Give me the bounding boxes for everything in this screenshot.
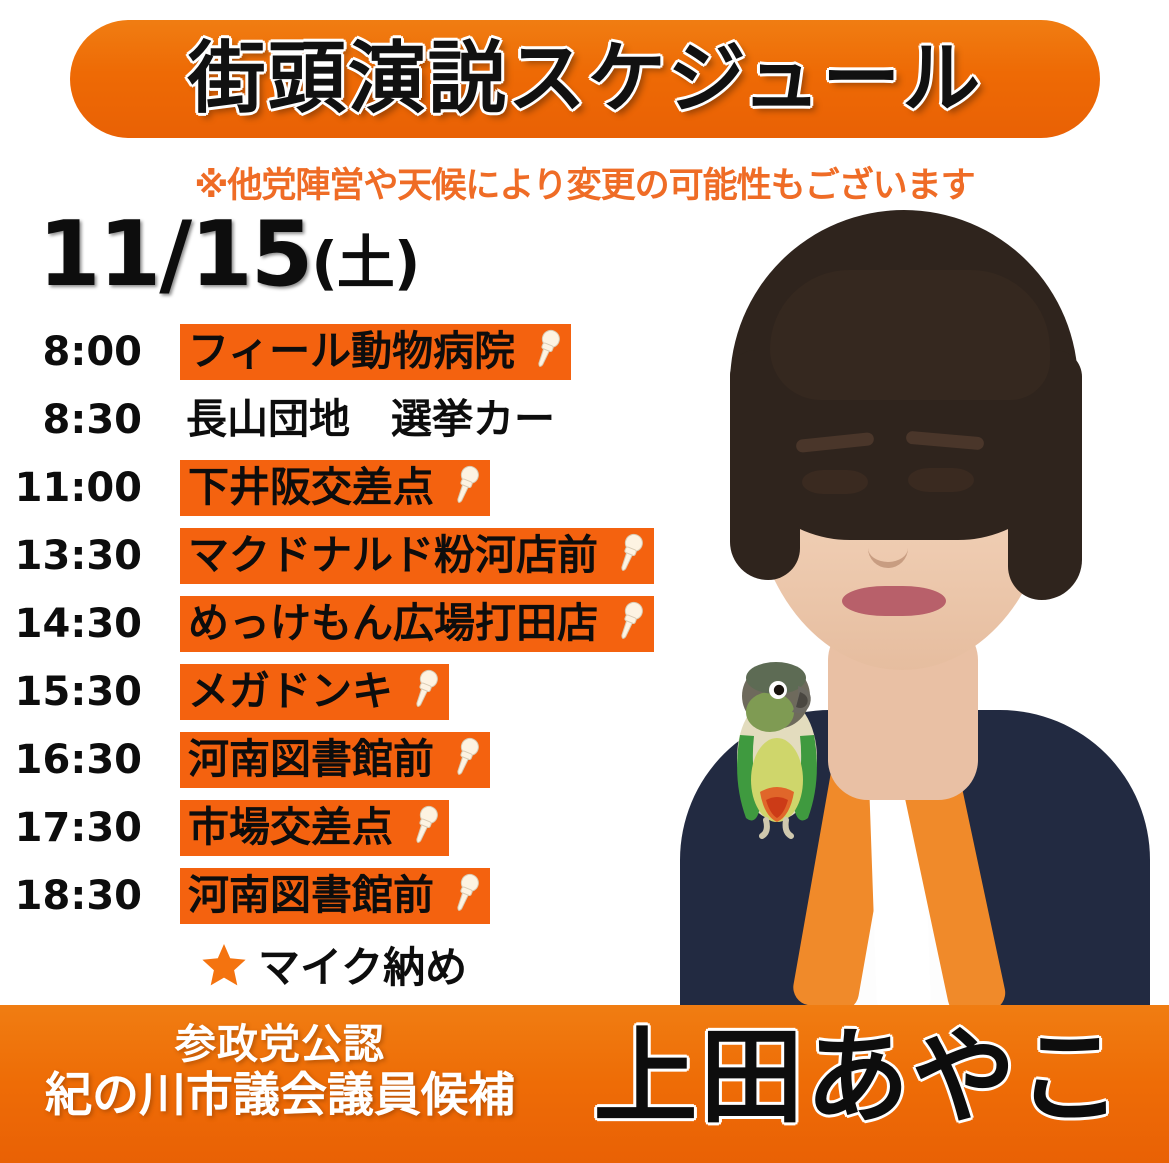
schedule-place-label: 下井阪交差点	[188, 467, 434, 508]
schedule-row: 8:00 フィール動物病院	[0, 318, 700, 386]
schedule-place-wrap: 長山団地 選挙カー	[180, 394, 563, 447]
schedule-time: 8:00	[0, 329, 152, 375]
schedule-place-label: フィール動物病院	[188, 331, 515, 372]
schedule-place-wrap: マクドナルド粉河店前	[180, 528, 654, 584]
microphone-icon	[448, 873, 482, 917]
date-heading: 11/15 (土)	[38, 212, 419, 298]
schedule-time: 18:30	[0, 873, 152, 919]
schedule-time: 16:30	[0, 737, 152, 783]
schedule-place-label: メガドンキ	[188, 671, 393, 712]
star-icon	[200, 941, 248, 989]
schedule-row: 13:30 マクドナルド粉河店前	[0, 522, 700, 590]
microphone-icon	[407, 669, 441, 713]
schedule-time: 14:30	[0, 601, 152, 647]
schedule-time: 11:00	[0, 465, 152, 511]
poster-root: 街頭演説スケジュール ※他党陣営や天候により変更の可能性もございます 11/15…	[0, 0, 1169, 1163]
microphone-icon	[529, 329, 563, 373]
schedule-place-label: 河南図書館前	[188, 875, 434, 916]
schedule-place-wrap: 河南図書館前	[180, 868, 490, 924]
schedule-place-wrap: 市場交差点	[180, 800, 449, 856]
schedule-place: 河南図書館前	[180, 732, 490, 788]
schedule-time: 17:30	[0, 805, 152, 851]
eye-right	[908, 468, 974, 492]
hair-bangs	[770, 270, 1050, 400]
schedule-place-label: めっけもん広場打田店	[188, 603, 598, 644]
schedule-place: マクドナルド粉河店前	[180, 528, 654, 584]
schedule-time: 8:30	[0, 397, 152, 443]
closing-note: マイク納め	[200, 934, 467, 995]
closing-label: マイク納め	[258, 934, 467, 995]
date-value: 11/15	[38, 212, 311, 298]
eye-left	[802, 470, 868, 494]
candidate-photo	[620, 150, 1169, 1010]
schedule-place: 河南図書館前	[180, 868, 490, 924]
schedule-place: フィール動物病院	[180, 324, 571, 380]
schedule-place-wrap: 河南図書館前	[180, 732, 490, 788]
schedule-place-label: マクドナルド粉河店前	[188, 535, 598, 576]
schedule-row: 16:30 河南図書館前	[0, 726, 700, 794]
schedule-place-wrap: めっけもん広場打田店	[180, 596, 654, 652]
party-endorsement: 参政党公認	[0, 1021, 560, 1068]
schedule-place: 下井阪交差点	[180, 460, 490, 516]
schedule-place: めっけもん広場打田店	[180, 596, 654, 652]
candidate-name: 上田あやこ	[548, 1012, 1169, 1142]
schedule-row: 15:30 メガドンキ	[0, 658, 700, 726]
schedule-place-wrap: フィール動物病院	[180, 324, 571, 380]
candidate-role: 紀の川市議会議員候補	[0, 1068, 560, 1124]
microphone-icon	[448, 737, 482, 781]
parrot-icon	[720, 640, 835, 845]
schedule-time: 13:30	[0, 533, 152, 579]
schedule-row: 14:30 めっけもん広場打田店	[0, 590, 700, 658]
nose	[868, 510, 908, 568]
schedule-place-label: 長山団地 選挙カー	[186, 399, 555, 440]
schedule-row: 11:00 下井阪交差点	[0, 454, 700, 522]
schedule-list: 8:00 フィール動物病院 8:30 長山団地 選挙カー 11:00	[0, 318, 700, 930]
footer-left-block: 参政党公認 紀の川市議会議員候補	[0, 1021, 560, 1125]
schedule-place-wrap: 下井阪交差点	[180, 460, 490, 516]
microphone-icon	[407, 805, 441, 849]
header-banner: 街頭演説スケジュール	[70, 20, 1100, 138]
mouth	[842, 586, 946, 616]
schedule-place: メガドンキ	[180, 664, 449, 720]
schedule-place-label: 市場交差点	[188, 807, 393, 848]
date-weekday: (土)	[311, 234, 419, 298]
schedule-place-wrap: メガドンキ	[180, 664, 449, 720]
schedule-row: 8:30 長山団地 選挙カー	[0, 386, 700, 454]
schedule-place: 市場交差点	[180, 800, 449, 856]
schedule-row: 18:30 河南図書館前	[0, 862, 700, 930]
schedule-place: 長山団地 選挙カー	[180, 394, 563, 447]
schedule-row: 17:30 市場交差点	[0, 794, 700, 862]
microphone-icon	[448, 465, 482, 509]
schedule-time: 15:30	[0, 669, 152, 715]
schedule-place-label: 河南図書館前	[188, 739, 434, 780]
page-title: 街頭演説スケジュール	[188, 40, 983, 118]
